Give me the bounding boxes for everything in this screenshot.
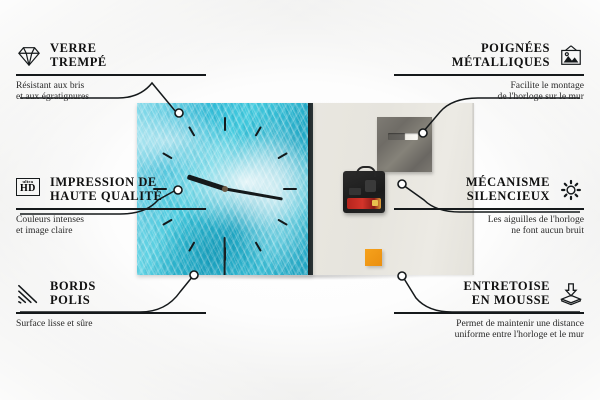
callout-description: Les aiguilles de l'horloge ne font aucun… bbox=[394, 214, 584, 237]
callout-title: VERRE TREMPÉ bbox=[50, 42, 107, 69]
callout-header: MÉCANISME SILENCIEUX bbox=[394, 176, 584, 203]
gear-icon bbox=[558, 178, 584, 202]
mechanism-switch bbox=[349, 188, 361, 195]
callout-description: Facilite le montage de l'horloge sur le … bbox=[394, 80, 584, 103]
metal-hanging-plate bbox=[377, 117, 432, 172]
callout-header: BORDS POLIS bbox=[16, 280, 206, 307]
callout-header: POIGNÉES MÉTALLIQUES bbox=[394, 42, 584, 69]
diamond-icon bbox=[16, 44, 42, 68]
callout-poignees-metalliques: POIGNÉES MÉTALLIQUES Facilite le montage… bbox=[394, 42, 584, 103]
callout-description: Permet de maintenir une distance uniform… bbox=[394, 318, 584, 341]
infographic-canvas: VERRE TREMPÉ Résistant aux bris et aux é… bbox=[0, 0, 600, 400]
callout-rule bbox=[16, 208, 206, 210]
callout-mecanisme-silencieux: MÉCANISME SILENCIEUX Les aiguilles de l'… bbox=[394, 176, 584, 237]
clock-tick bbox=[224, 117, 226, 189]
polished-edges-icon bbox=[16, 282, 42, 306]
callout-header: ENTRETOISE EN MOUSSE bbox=[394, 280, 584, 307]
clock-mechanism bbox=[343, 171, 385, 213]
picture-hanging-icon bbox=[558, 44, 584, 68]
callout-bords-polis: BORDS POLIS Surface lisse et sûre bbox=[16, 280, 206, 329]
callout-impression-haute-qualite: ultra HD IMPRESSION DE HAUTE QUALITÉ Cou… bbox=[16, 176, 206, 237]
ultra-hd-icon: ultra HD bbox=[16, 178, 42, 202]
plate-slot bbox=[388, 133, 418, 140]
callout-header: ultra HD IMPRESSION DE HAUTE QUALITÉ bbox=[16, 176, 206, 203]
callout-rule bbox=[394, 312, 584, 314]
callout-rule bbox=[394, 74, 584, 76]
mechanism-knob bbox=[365, 180, 376, 192]
callout-rule bbox=[394, 208, 584, 210]
callout-entretoise-en-mousse: ENTRETOISE EN MOUSSE Permet de maintenir… bbox=[394, 280, 584, 341]
callout-rule bbox=[16, 312, 206, 314]
foam-spacer bbox=[365, 249, 382, 266]
hd-label: HD bbox=[20, 184, 36, 194]
panel-edge bbox=[308, 103, 313, 275]
callout-header: VERRE TREMPÉ bbox=[16, 42, 206, 69]
clock-center-pin bbox=[222, 186, 228, 192]
battery bbox=[347, 198, 381, 209]
callout-title: MÉCANISME SILENCIEUX bbox=[466, 176, 550, 203]
callout-title: POIGNÉES MÉTALLIQUES bbox=[452, 42, 550, 69]
callout-description: Couleurs intenses et image claire bbox=[16, 214, 206, 237]
callout-rule bbox=[16, 74, 206, 76]
mechanism-hanging-loop bbox=[356, 166, 376, 177]
callout-verre-trempe: VERRE TREMPÉ Résistant aux bris et aux é… bbox=[16, 42, 206, 103]
press-down-foam-icon bbox=[558, 282, 584, 306]
callout-description: Résistant aux bris et aux égratignures bbox=[16, 80, 206, 103]
clock-tick bbox=[224, 126, 262, 189]
callout-description: Surface lisse et sûre bbox=[16, 318, 206, 330]
callout-title: BORDS POLIS bbox=[50, 280, 96, 307]
callout-title: ENTRETOISE EN MOUSSE bbox=[463, 280, 550, 307]
callout-title: IMPRESSION DE HAUTE QUALITÉ bbox=[50, 176, 162, 203]
second-hand bbox=[224, 237, 226, 275]
